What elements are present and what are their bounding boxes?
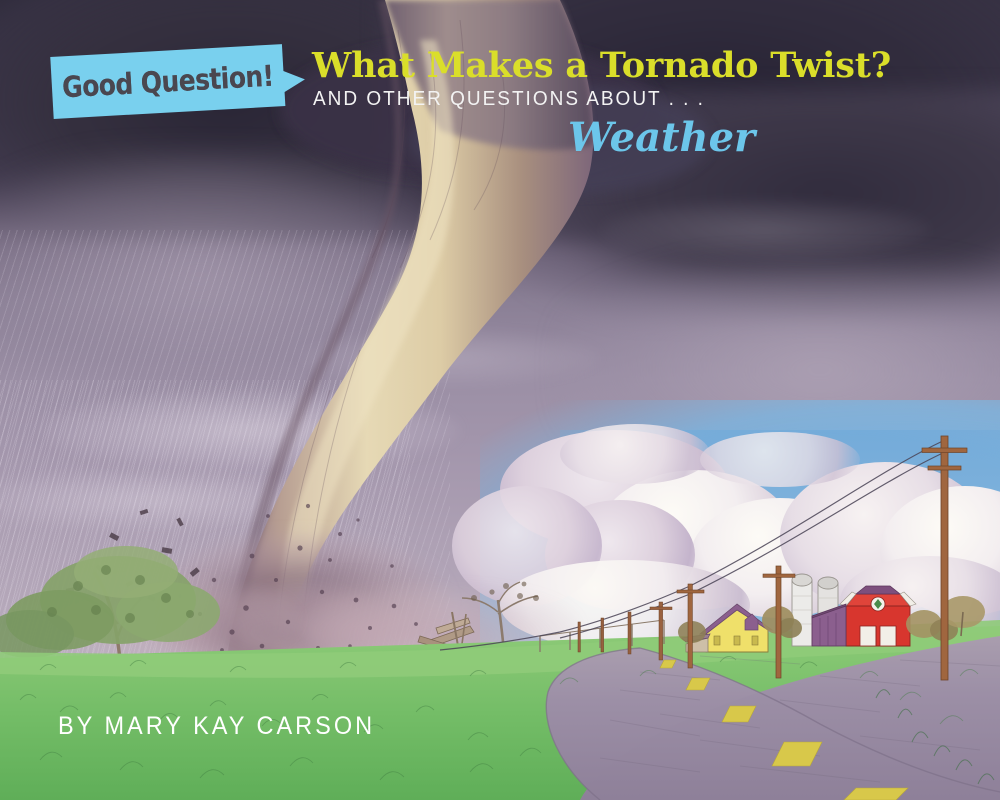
book-cover: Good Question! What Makes a Tornado Twis… <box>0 0 1000 800</box>
speech-bubble-tail-icon <box>282 69 305 92</box>
book-subtitle: AND OTHER QUESTIONS ABOUT . . . <box>313 88 705 111</box>
series-badge[interactable]: Good Question! <box>50 44 285 119</box>
series-badge-label: Good Question! <box>66 45 269 118</box>
book-topic: Weather <box>568 114 755 161</box>
book-title: What Makes a Tornado Twist? <box>312 48 891 83</box>
author-credit: BY MARY KAY CARSON <box>58 712 375 741</box>
